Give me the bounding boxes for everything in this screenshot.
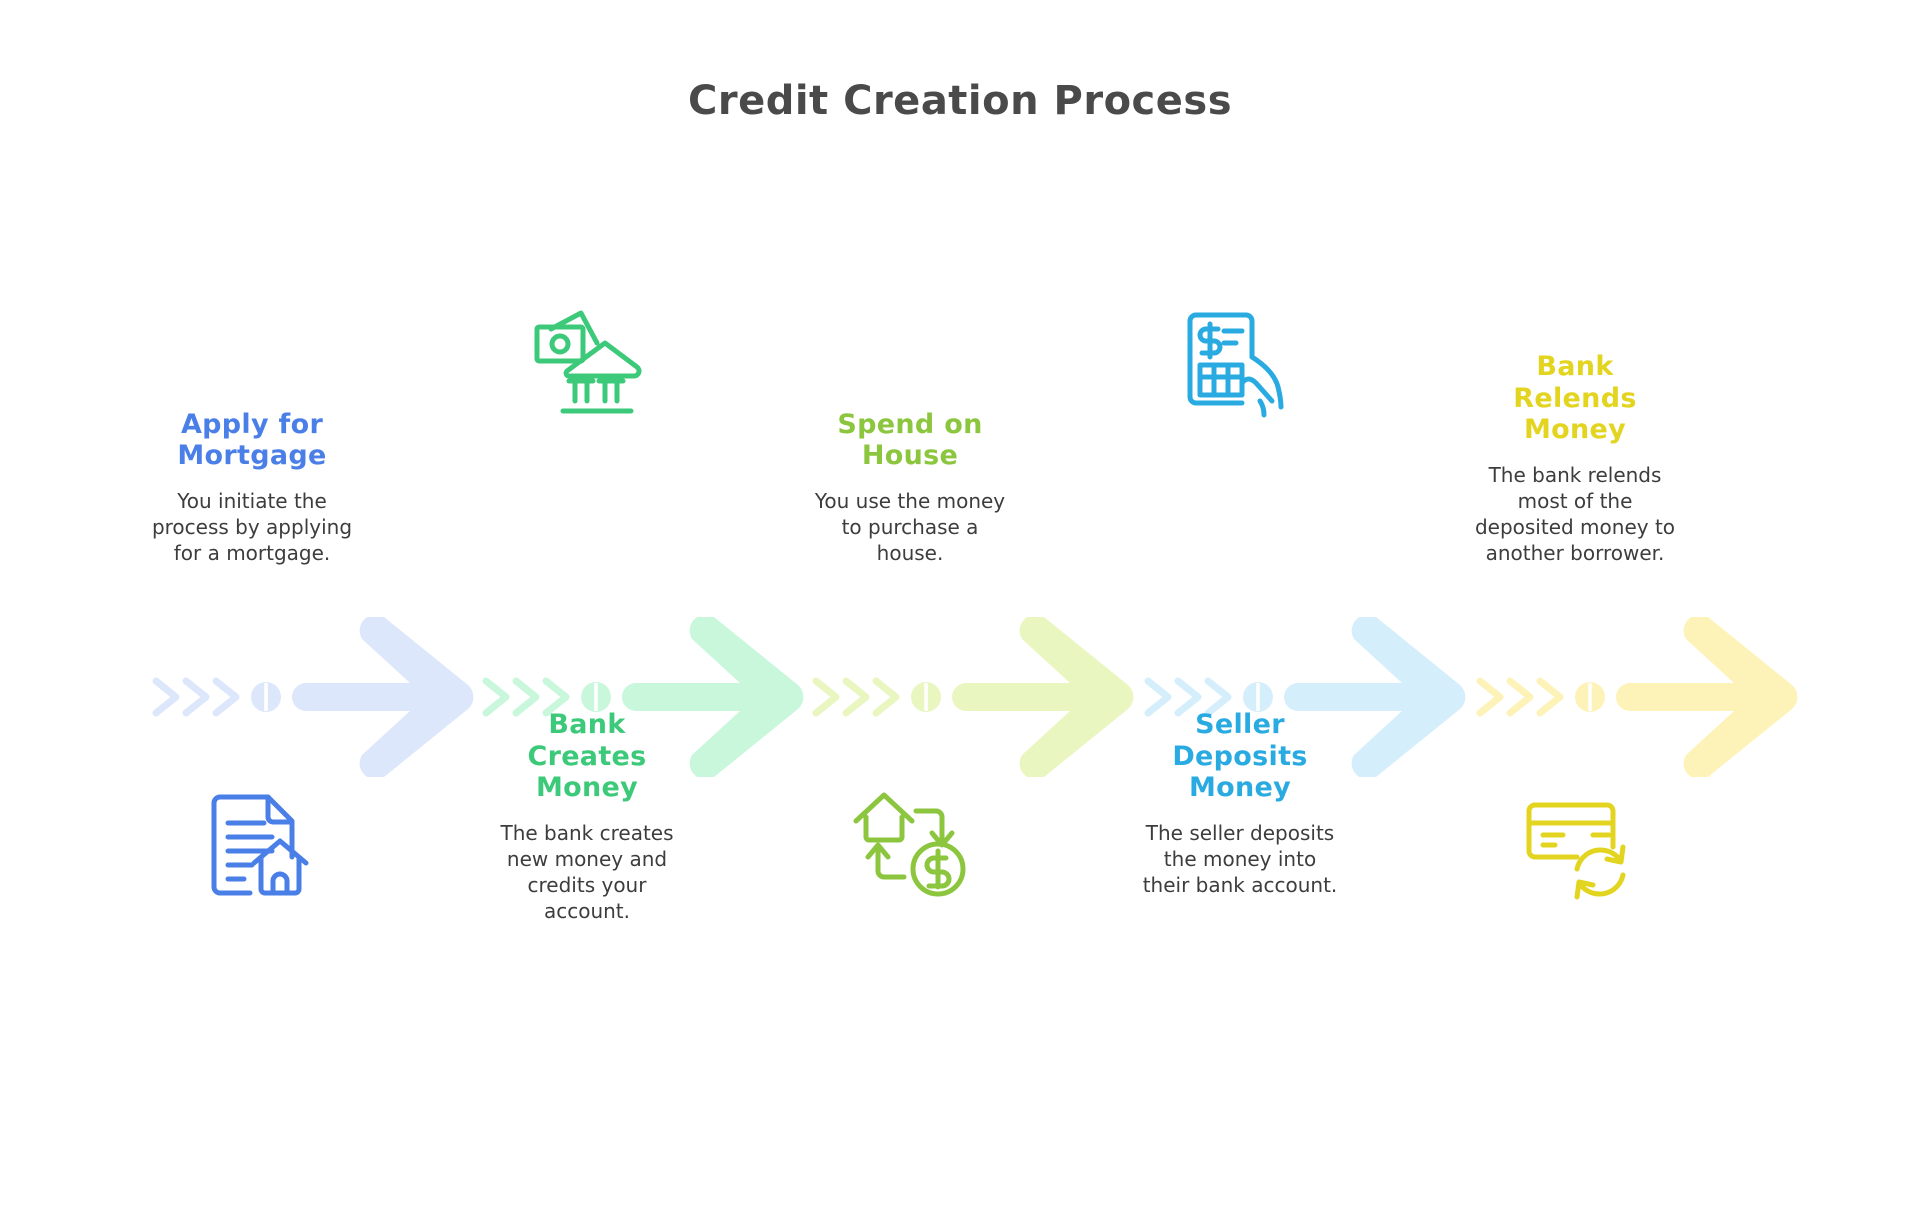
banknotes-bank-icon — [527, 305, 647, 425]
step-5-icon-slot — [1425, 695, 1725, 995]
step-5-heading: Bank Relends Money — [1475, 351, 1675, 446]
step-3-icon-slot — [760, 695, 1060, 995]
step-1-description: You initiate the process by applying for… — [150, 488, 355, 566]
step-4-description: The seller deposits the money into their… — [1138, 820, 1343, 898]
step-1-text-block: Apply for Mortgage You initiate the proc… — [102, 150, 402, 580]
step-4-text-block: Seller Deposits Money The seller deposit… — [1090, 695, 1390, 1125]
house-money-exchange-icon — [850, 785, 970, 905]
step-3-text-block: Spend on House You use the money to purc… — [760, 150, 1060, 580]
step-spend-on-house: Spend on House You use the money to purc… — [760, 150, 1060, 1150]
step-1-heading: Apply for Mortgage — [152, 409, 352, 472]
step-4-heading: Seller Deposits Money — [1140, 709, 1340, 804]
step-apply-for-mortgage: Apply for Mortgage You initiate the proc… — [102, 150, 402, 1150]
document-house-icon — [192, 785, 312, 905]
step-2-description: The bank creates new money and credits y… — [485, 820, 690, 924]
step-seller-deposits-money: Seller Deposits Money The seller deposit… — [1090, 150, 1390, 1150]
infographic-canvas: Credit Creation Process — [0, 0, 1920, 1206]
step-4-icon-slot — [1090, 150, 1390, 580]
step-3-description: You use the money to purchase a house. — [808, 488, 1013, 566]
process-steps: Apply for Mortgage You initiate the proc… — [0, 0, 1920, 1206]
step-5-description: The bank relends most of the deposited m… — [1473, 462, 1678, 566]
step-5-text-block: Bank Relends Money The bank relends most… — [1425, 150, 1725, 580]
step-bank-relends-money: Bank Relends Money The bank relends most… — [1425, 150, 1725, 1150]
step-2-icon-slot — [437, 150, 737, 580]
step-2-text-block: Bank Creates Money The bank creates new … — [437, 695, 737, 1125]
step-2-heading: Bank Creates Money — [487, 709, 687, 804]
step-bank-creates-money: Bank Creates Money The bank creates new … — [437, 150, 737, 1150]
step-1-icon-slot — [102, 695, 402, 995]
deposit-slip-hand-icon — [1180, 305, 1300, 425]
credit-card-refresh-icon — [1515, 785, 1635, 905]
step-3-heading: Spend on House — [810, 409, 1010, 472]
